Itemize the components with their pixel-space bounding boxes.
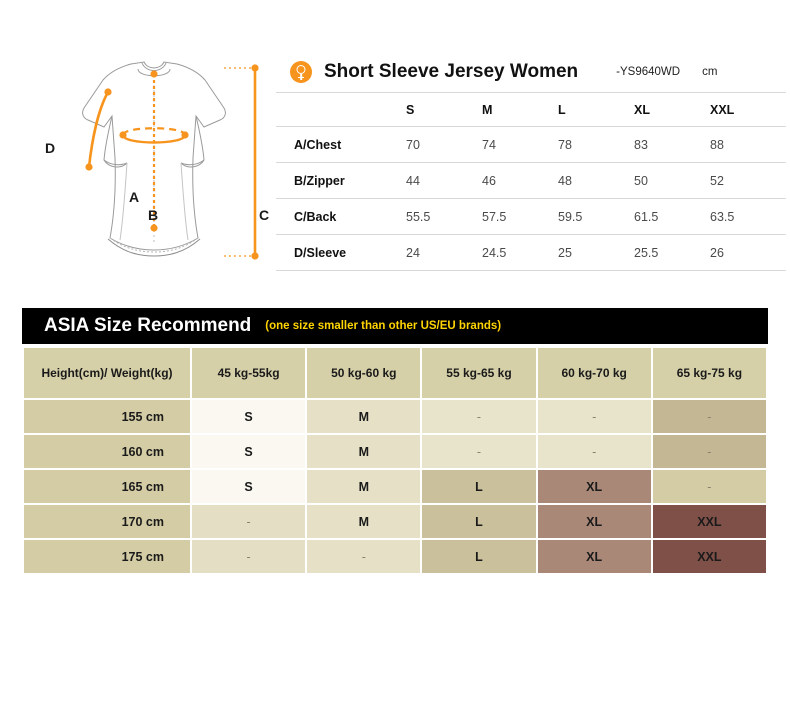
measurement-table-block: Short Sleeve Jersey Women -YS9640WD cm S… [276,52,770,271]
measurement-cell: 48 [558,163,634,199]
asia-cell-size: XL [538,540,651,573]
asia-cell-empty: - [422,435,535,468]
measurement-cell: 25.5 [634,235,710,271]
measurement-row-label: B/Zipper [276,163,406,199]
table-row: 165 cmSMLXL- [24,470,766,503]
measurement-col-m: M [482,93,558,127]
asia-cell-empty: - [422,400,535,433]
measurement-cell: 50 [634,163,710,199]
measure-C-back-length [224,64,259,259]
measurement-cell: 52 [710,163,786,199]
measurement-table: S M L XL XXL A/Chest 70 74 78 83 88 B/Zi… [276,92,786,271]
measurement-cell: 55.5 [406,199,482,235]
asia-size-title: ASIA Size Recommend [44,315,251,337]
asia-cell-size: M [307,400,420,433]
asia-cell-size: L [422,505,535,538]
product-code: -YS9640WD [616,66,680,78]
asia-row-height: 155 cm [24,400,190,433]
asia-cell-size: L [422,470,535,503]
table-row: B/Zipper 44 46 48 50 52 [276,163,786,199]
measurement-cell: 78 [558,127,634,163]
jersey-measurement-diagram: A B C D [28,48,286,280]
measurement-cell: 83 [634,127,710,163]
asia-cell-empty: - [653,435,766,468]
asia-cell-size: M [307,470,420,503]
asia-cell-empty: - [307,540,420,573]
page-title: Short Sleeve Jersey Women [324,61,578,83]
asia-cell-size: XXL [653,505,766,538]
asia-cell-size: S [192,400,305,433]
asia-cell-empty: - [538,435,651,468]
measurement-cell: 24.5 [482,235,558,271]
measurement-col-s: S [406,93,482,127]
asia-cell-empty: - [653,470,766,503]
asia-cell-empty: - [538,400,651,433]
asia-size-header-bar: ASIA Size Recommend (one size smaller th… [22,308,768,344]
asia-cell-size: XL [538,505,651,538]
asia-size-table: Height(cm)/ Weight(kg) 45 kg-55kg 50 kg-… [22,346,768,575]
asia-row-height: 170 cm [24,505,190,538]
table-row: C/Back 55.5 57.5 59.5 61.5 63.5 [276,199,786,235]
diagram-label-c: C [259,207,269,223]
measurement-row-label: C/Back [276,199,406,235]
asia-col-height-weight: Height(cm)/ Weight(kg) [24,348,190,398]
asia-cell-size: XL [538,470,651,503]
asia-row-height: 175 cm [24,540,190,573]
asia-row-height: 165 cm [24,470,190,503]
jersey-illustration [28,48,286,280]
asia-col-60-70: 60 kg-70 kg [538,348,651,398]
diagram-label-a: A [129,189,139,205]
asia-col-65-75: 65 kg-75 kg [653,348,766,398]
measurement-cell: 63.5 [710,199,786,235]
measurement-header: Short Sleeve Jersey Women -YS9640WD cm [276,52,770,92]
measurement-cell: 59.5 [558,199,634,235]
asia-cell-empty: - [192,505,305,538]
measurement-col-l: L [558,93,634,127]
measurement-row-label: A/Chest [276,127,406,163]
table-row: A/Chest 70 74 78 83 88 [276,127,786,163]
measurement-col-xl: XL [634,93,710,127]
measurement-cell: 57.5 [482,199,558,235]
asia-cell-size: L [422,540,535,573]
asia-row-height: 160 cm [24,435,190,468]
measurement-col-blank [276,93,406,127]
measurement-cell: 46 [482,163,558,199]
measurement-cell: 61.5 [634,199,710,235]
measurement-cell: 24 [406,235,482,271]
table-row: 170 cm-MLXLXXL [24,505,766,538]
unit-label: cm [702,66,717,78]
diagram-label-d: D [45,140,55,156]
measurement-cell: 44 [406,163,482,199]
asia-size-subtitle: (one size smaller than other US/EU brand… [265,320,501,332]
measurement-header-row: S M L XL XXL [276,93,786,127]
asia-cell-size: S [192,470,305,503]
asia-col-45-55: 45 kg-55kg [192,348,305,398]
table-row: D/Sleeve 24 24.5 25 25.5 26 [276,235,786,271]
measurement-cell: 74 [482,127,558,163]
asia-cell-empty: - [653,400,766,433]
measurement-col-xxl: XXL [710,93,786,127]
table-row: 155 cmSM--- [24,400,766,433]
asia-col-55-65: 55 kg-65 kg [422,348,535,398]
venus-female-icon [290,61,312,83]
asia-cell-size: M [307,435,420,468]
asia-cell-size: S [192,435,305,468]
table-row: 175 cm--LXLXXL [24,540,766,573]
measurement-row-label: D/Sleeve [276,235,406,271]
asia-cell-empty: - [192,540,305,573]
table-row: 160 cmSM--- [24,435,766,468]
diagram-label-b: B [148,207,158,223]
measurement-cell: 70 [406,127,482,163]
measurement-cell: 88 [710,127,786,163]
measurement-cell: 26 [710,235,786,271]
asia-col-50-60: 50 kg-60 kg [307,348,420,398]
asia-cell-size: XXL [653,540,766,573]
asia-header-row: Height(cm)/ Weight(kg) 45 kg-55kg 50 kg-… [24,348,766,398]
measurement-cell: 25 [558,235,634,271]
asia-cell-size: M [307,505,420,538]
